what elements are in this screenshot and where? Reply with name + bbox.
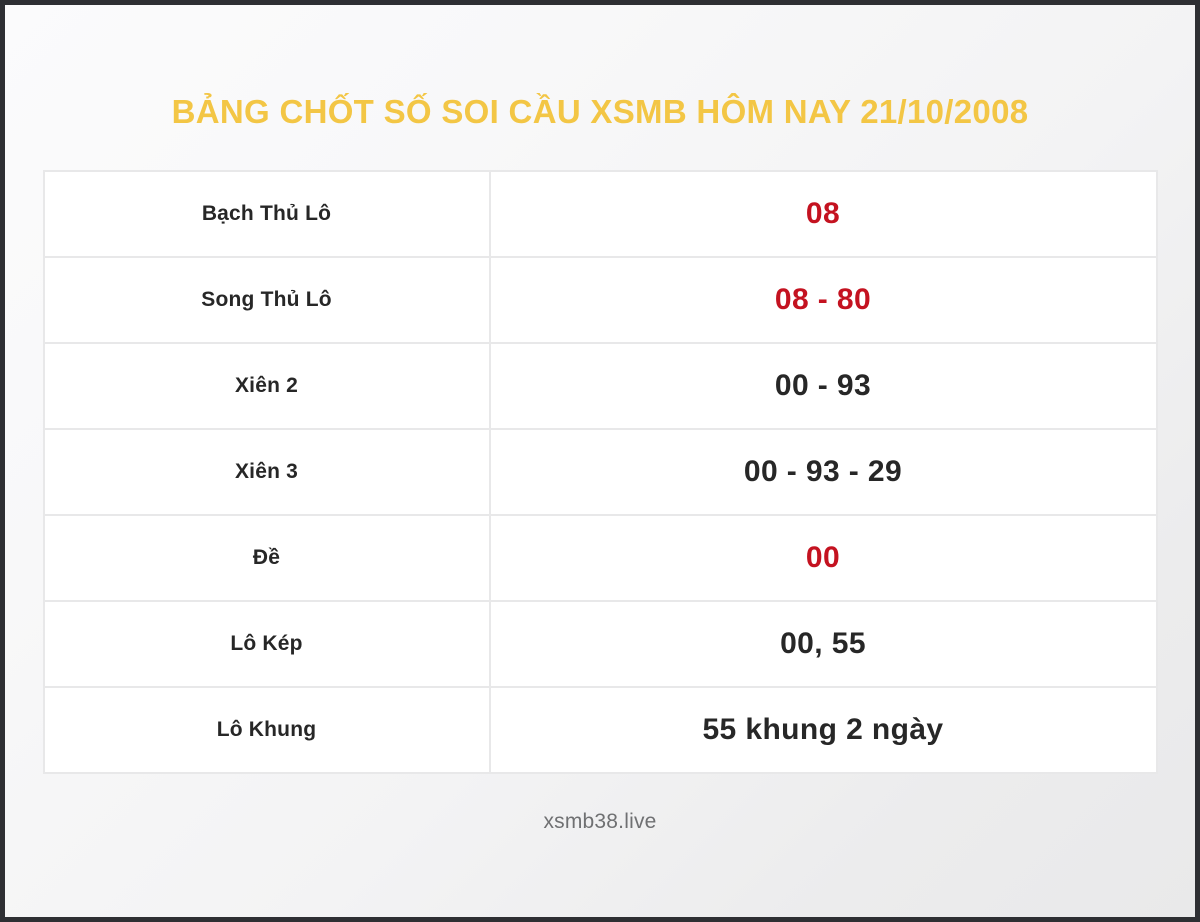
table-row: Bạch Thủ Lô08 — [45, 172, 1156, 258]
table-row: Đề00 — [45, 516, 1156, 602]
row-label: Song Thủ Lô — [45, 258, 491, 342]
row-label: Xiên 2 — [45, 344, 491, 428]
table-row: Lô Kép00, 55 — [45, 602, 1156, 688]
result-card: BẢNG CHỐT SỐ SOI CẦU XSMB HÔM NAY 21/10/… — [5, 5, 1195, 917]
table-row: Xiên 200 - 93 — [45, 344, 1156, 430]
page-title: BẢNG CHỐT SỐ SOI CẦU XSMB HÔM NAY 21/10/… — [172, 95, 1029, 128]
row-value: 08 - 80 — [491, 258, 1156, 342]
title-container: BẢNG CHỐT SỐ SOI CẦU XSMB HÔM NAY 21/10/… — [5, 95, 1195, 128]
table-row: Lô Khung55 khung 2 ngày — [45, 688, 1156, 774]
row-label: Lô Khung — [45, 688, 491, 772]
row-label: Đề — [45, 516, 491, 600]
row-label: Xiên 3 — [45, 430, 491, 514]
row-label: Lô Kép — [45, 602, 491, 686]
table-row: Song Thủ Lô08 - 80 — [45, 258, 1156, 344]
prediction-table: Bạch Thủ Lô08Song Thủ Lô08 - 80Xiên 200 … — [43, 170, 1158, 774]
row-value: 55 khung 2 ngày — [491, 688, 1156, 772]
row-value: 00 — [491, 516, 1156, 600]
footer-site-label: xsmb38.live — [543, 810, 656, 834]
table-row: Xiên 300 - 93 - 29 — [45, 430, 1156, 516]
row-value: 00, 55 — [491, 602, 1156, 686]
row-value: 00 - 93 — [491, 344, 1156, 428]
row-value: 00 - 93 - 29 — [491, 430, 1156, 514]
row-value: 08 — [491, 172, 1156, 256]
row-label: Bạch Thủ Lô — [45, 172, 491, 256]
